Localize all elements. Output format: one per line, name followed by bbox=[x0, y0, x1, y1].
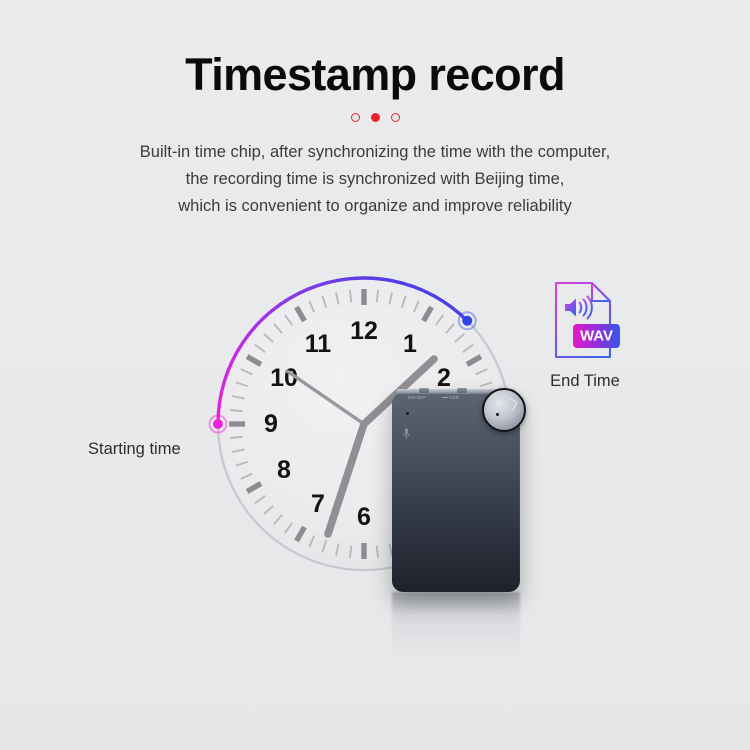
dot-decoration bbox=[0, 111, 750, 123]
subtitle-line-2: the recording time is synchronized with … bbox=[0, 166, 750, 193]
device-label-on-off: ON-OFF bbox=[408, 395, 426, 400]
speaker-body bbox=[565, 299, 576, 317]
device-led-indicator bbox=[406, 412, 409, 415]
clock-numeral-11: 11 bbox=[305, 330, 332, 358]
promo-page: Timestamp record Built-in time chip, aft… bbox=[0, 0, 750, 750]
clock-numeral-12: 12 bbox=[350, 317, 378, 345]
clock-numeral-9: 9 bbox=[264, 410, 278, 438]
volume-knob[interactable] bbox=[482, 388, 526, 432]
device-arrow-icon bbox=[442, 397, 448, 398]
starting-time-label: Starting time bbox=[88, 440, 181, 459]
microphone-glyph bbox=[403, 428, 410, 440]
sound-wave-1 bbox=[580, 303, 582, 313]
microphone-icon bbox=[403, 428, 409, 438]
page-title: Timestamp record bbox=[0, 52, 750, 97]
end-marker-dot bbox=[462, 316, 472, 326]
end-time-label: End Time bbox=[520, 372, 650, 391]
wav-file-icon[interactable]: WAV bbox=[552, 278, 620, 362]
power-switch-nub[interactable] bbox=[419, 388, 429, 393]
voice-recorder-device[interactable]: ON-OFF VOR bbox=[392, 392, 520, 592]
clock-numeral-6: 6 bbox=[357, 503, 371, 531]
clock-numeral-2: 2 bbox=[437, 364, 451, 392]
sound-wave-2 bbox=[584, 300, 587, 316]
header: Timestamp record Built-in time chip, aft… bbox=[0, 52, 750, 220]
page-subtitle: Built-in time chip, after synchronizing … bbox=[0, 139, 750, 220]
clock-numeral-7: 7 bbox=[311, 490, 325, 518]
knob-notch-marker bbox=[504, 397, 518, 411]
subtitle-line-3: which is convenient to organize and impr… bbox=[0, 193, 750, 220]
start-marker-dot bbox=[213, 419, 223, 429]
speaker-waves-icon bbox=[565, 297, 592, 319]
device-reflection bbox=[392, 592, 520, 654]
clock-numeral-1: 1 bbox=[403, 330, 417, 358]
subtitle-line-1: Built-in time chip, after synchronizing … bbox=[0, 139, 750, 166]
wav-file-svg: WAV bbox=[552, 278, 620, 362]
clock-numeral-8: 8 bbox=[277, 456, 291, 484]
decoration-dot-3 bbox=[391, 113, 400, 122]
vor-switch-nub[interactable] bbox=[457, 388, 467, 393]
decoration-dot-2 bbox=[371, 113, 380, 122]
clock-numeral-10: 10 bbox=[270, 364, 298, 392]
decoration-dot-1 bbox=[351, 113, 360, 122]
device-label-vor: VOR bbox=[449, 395, 459, 400]
wav-badge-text: WAV bbox=[580, 328, 613, 345]
